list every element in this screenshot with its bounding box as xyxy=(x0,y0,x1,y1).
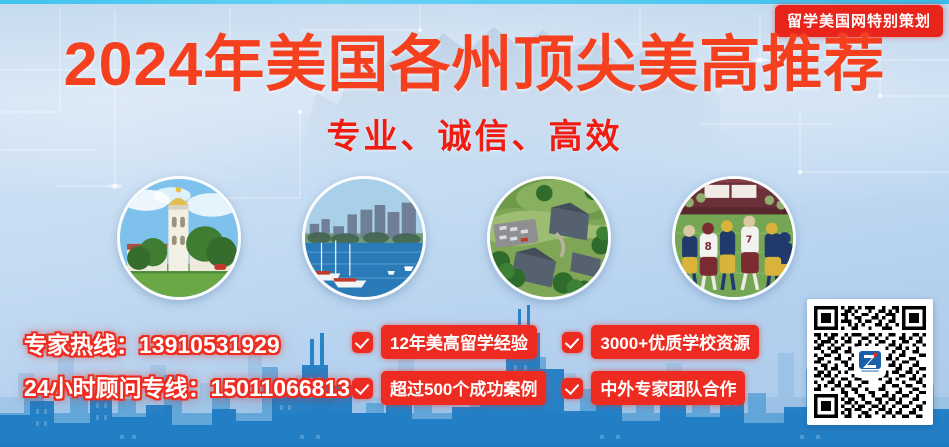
photo-aerial-campus xyxy=(487,176,611,300)
promo-banner: 留学美国网特别策划 2024年美国各州顶尖美高推荐 专业、诚信、高效 xyxy=(0,0,949,447)
feature-column-right: 3000+优质学校资源 中外专家团队合作 xyxy=(562,325,759,405)
bottom-accent-rule xyxy=(0,442,949,447)
qr-center-logo xyxy=(856,348,884,376)
feature-item: 3000+优质学校资源 xyxy=(562,325,759,359)
photo-waterfront-skyline xyxy=(302,176,426,300)
svg-text:8: 8 xyxy=(705,240,712,253)
feature-label: 中外专家团队合作 xyxy=(591,371,745,405)
svg-text:7: 7 xyxy=(746,235,753,246)
contact-block: 专家热线：13910531929 24小时顾问专线：15011066813 xyxy=(24,326,350,403)
feature-item: 中外专家团队合作 xyxy=(562,371,759,405)
feature-item: 12年美高留学经验 xyxy=(352,325,546,359)
check-icon xyxy=(562,332,583,353)
photo-football-game: 8 7 xyxy=(672,176,796,300)
page-subtitle: 专业、诚信、高效 xyxy=(0,120,949,154)
page-title: 2024年美国各州顶尖美高推荐 xyxy=(0,34,949,95)
photo-campus-bell-tower xyxy=(117,176,241,300)
check-icon xyxy=(352,378,373,399)
feature-label: 12年美高留学经验 xyxy=(381,325,537,359)
feature-item: 超过500个成功案例 xyxy=(352,371,546,405)
brand-z-logo xyxy=(856,348,884,376)
check-icon xyxy=(352,332,373,353)
feature-column-left: 12年美高留学经验 超过500个成功案例 xyxy=(352,325,546,405)
photo-circle-row: 8 7 xyxy=(0,176,949,300)
feature-label: 超过500个成功案例 xyxy=(381,371,546,405)
wechat-qr-code[interactable] xyxy=(807,299,933,425)
feature-badges: 12年美高留学经验 超过500个成功案例 3000+优质学校资源 中外专家团队合… xyxy=(352,325,759,405)
check-icon xyxy=(562,378,583,399)
advisor-hotline-line: 24小时顾问专线：15011066813 xyxy=(24,369,350,403)
feature-label: 3000+优质学校资源 xyxy=(591,325,759,359)
expert-hotline-line: 专家热线：13910531929 xyxy=(24,326,350,360)
top-accent-rule xyxy=(0,0,949,4)
